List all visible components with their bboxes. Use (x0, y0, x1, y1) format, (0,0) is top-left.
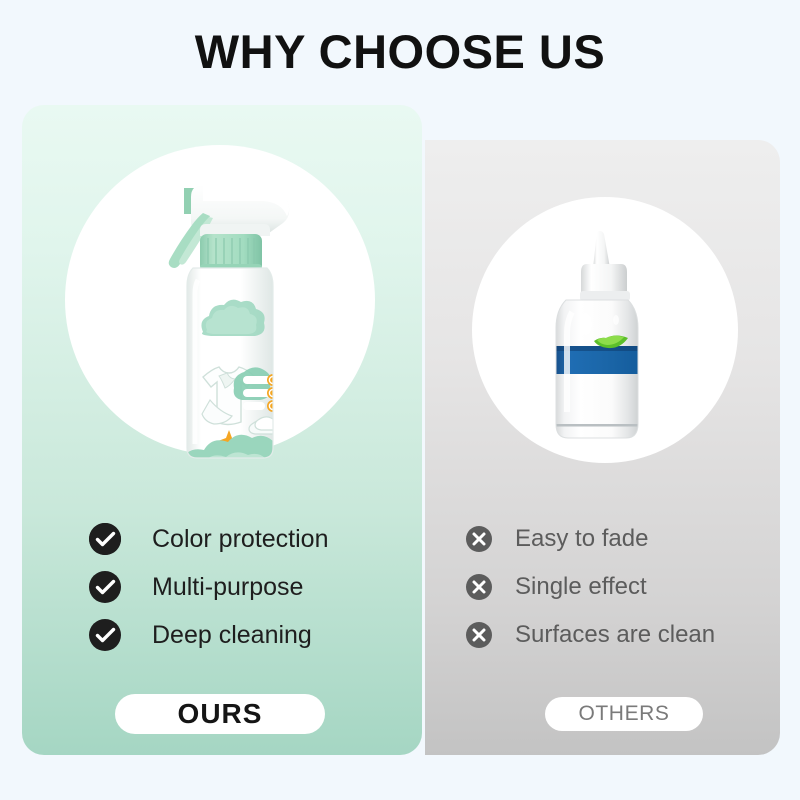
feature-label: Deep cleaning (152, 621, 312, 650)
check-circle-icon (88, 570, 122, 604)
feature-label: Color protection (152, 525, 328, 554)
check-circle-icon (88, 522, 122, 556)
feature-label: Surfaces are clean (515, 621, 715, 649)
list-item: Easy to fade (465, 523, 715, 555)
cross-circle-icon (465, 525, 493, 553)
feature-label: Single effect (515, 573, 647, 601)
badge-ours[interactable]: OURS (115, 694, 325, 734)
cross-circle-icon (465, 621, 493, 649)
list-item: Deep cleaning (88, 618, 328, 652)
list-item: Color protection (88, 522, 328, 556)
list-item: Multi-purpose (88, 570, 328, 604)
check-circle-icon (88, 618, 122, 652)
badge-others[interactable]: OTHERS (545, 697, 703, 731)
cross-circle-icon (465, 573, 493, 601)
spray-bottle-image (140, 172, 320, 472)
page-title: WHY CHOOSE US (0, 24, 800, 79)
feature-list-ours: Color protection Multi-purpose Deep clea… (88, 522, 328, 666)
list-item: Single effect (465, 571, 715, 603)
feature-list-others: Easy to fade Single effect Surfaces are … (465, 523, 715, 667)
list-item: Surfaces are clean (465, 619, 715, 651)
feature-label: Multi-purpose (152, 573, 303, 602)
feature-label: Easy to fade (515, 525, 648, 553)
squeeze-bottle-image (520, 228, 690, 460)
